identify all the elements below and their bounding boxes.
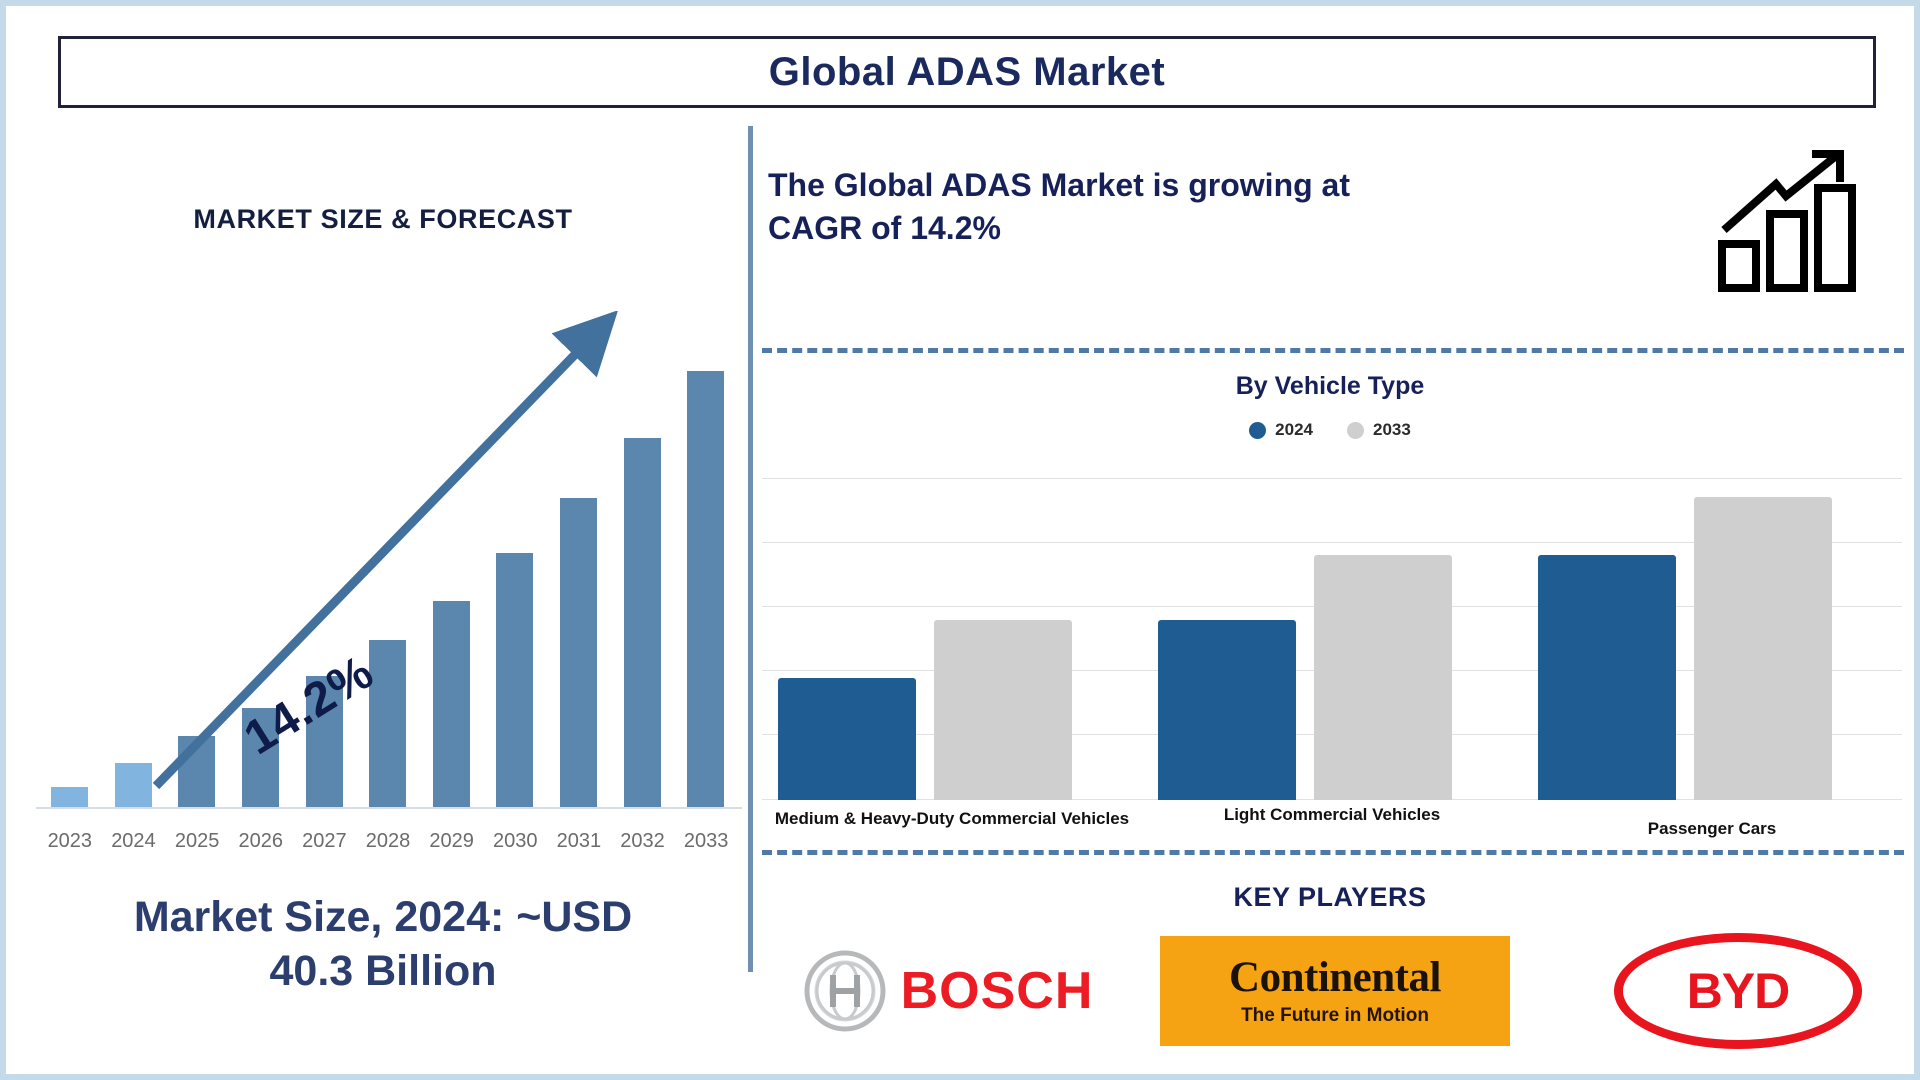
forecast-bar	[687, 371, 724, 807]
legend-label: 2024	[1275, 420, 1313, 440]
vehicle-type-category-label: Passenger Cars	[1522, 818, 1902, 841]
forecast-bar	[433, 601, 470, 807]
forecast-year-label: 2028	[356, 830, 420, 853]
vehicle-type-bar-2033	[1694, 497, 1832, 800]
vehicle-type-chart	[762, 478, 1902, 800]
forecast-bar	[369, 640, 406, 807]
forecast-year-label: 2032	[611, 830, 675, 853]
byd-wordmark: BYD	[1687, 962, 1790, 1020]
forecast-bar	[51, 787, 88, 807]
forecast-bar-slot	[420, 331, 484, 807]
legend-item[interactable]: 2033	[1347, 420, 1411, 440]
market-forecast-chart: 2023202420252026202720282029203020312032…	[28, 311, 746, 871]
growth-headline-line2: CAGR of 14.2%	[768, 207, 1638, 250]
forecast-bar-slot	[102, 331, 166, 807]
right-panel: The Global ADAS Market is growing at CAG…	[748, 126, 1912, 1071]
bosch-wordmark: BOSCH	[901, 961, 1094, 1021]
forecast-year-label: 2029	[420, 830, 484, 853]
vehicle-type-category-label: Light Commercial Vehicles	[1142, 804, 1522, 827]
byd-oval-icon: BYD	[1614, 933, 1862, 1049]
forecast-year-label: 2025	[165, 830, 229, 853]
forecast-year-label: 2027	[293, 830, 357, 853]
left-panel: MARKET SIZE & FORECAST 20232024202520262…	[20, 126, 746, 1066]
legend-label: 2033	[1373, 420, 1411, 440]
legend-item[interactable]: 2024	[1249, 420, 1313, 440]
market-size-note: Market Size, 2024: ~USD 40.3 Billion	[30, 891, 736, 999]
vehicle-type-title: By Vehicle Type	[748, 372, 1912, 401]
key-players-title: KEY PLAYERS	[748, 882, 1912, 913]
forecast-year-label: 2024	[102, 830, 166, 853]
continental-tagline: The Future in Motion	[1241, 1005, 1429, 1027]
vehicle-type-bar-2024	[1538, 555, 1676, 800]
continental-wordmark: Continental	[1229, 956, 1441, 999]
vehicle-type-group	[1142, 478, 1522, 800]
growth-chart-icon	[1714, 148, 1864, 293]
forecast-year-label: 2030	[483, 830, 547, 853]
title-box: Global ADAS Market	[58, 36, 1876, 108]
forecast-bar-slot	[674, 331, 738, 807]
market-size-note-line1: Market Size, 2024: ~USD	[30, 891, 736, 945]
market-size-note-line2: 40.3 Billion	[30, 945, 736, 999]
growth-headline: The Global ADAS Market is growing at CAG…	[768, 164, 1638, 249]
forecast-year-label: 2023	[38, 830, 102, 853]
forecast-bar-slot	[547, 331, 611, 807]
logo-byd: BYD	[1588, 936, 1888, 1046]
infographic-canvas: Global ADAS Market MARKET SIZE & FORECAS…	[0, 0, 1920, 1080]
forecast-axis-line	[36, 807, 742, 809]
forecast-bar-slot	[165, 331, 229, 807]
forecast-bars	[38, 331, 738, 807]
legend-dot-icon	[1347, 422, 1364, 439]
divider-dashed-top	[762, 348, 1904, 353]
logo-bosch: BOSCH	[768, 936, 1128, 1046]
forecast-bar	[560, 498, 597, 807]
vehicle-type-bar-2024	[778, 678, 916, 800]
forecast-year-label: 2031	[547, 830, 611, 853]
logo-continental: Continental The Future in Motion	[1160, 936, 1510, 1046]
vehicle-type-group	[762, 478, 1142, 800]
forecast-bar	[624, 438, 661, 807]
forecast-bar-slot	[611, 331, 675, 807]
vehicle-type-bar-2033	[934, 620, 1072, 800]
vehicle-type-bar-2033	[1314, 555, 1452, 800]
vehicle-type-legend: 20242033	[748, 420, 1912, 440]
vehicle-type-bar-2024	[1158, 620, 1296, 800]
market-size-forecast-label: MARKET SIZE & FORECAST	[20, 204, 746, 235]
page-title: Global ADAS Market	[769, 50, 1165, 95]
forecast-bar-slot	[356, 331, 420, 807]
vehicle-type-category-label: Medium & Heavy-Duty Commercial Vehicles	[762, 808, 1142, 831]
forecast-year-label: 2026	[229, 830, 293, 853]
key-players-logos: BOSCH Continental The Future in Motion B…	[748, 936, 1912, 1056]
bosch-emblem-icon	[803, 949, 887, 1033]
forecast-bar	[115, 763, 152, 807]
forecast-bar	[178, 736, 215, 807]
forecast-year-labels: 2023202420252026202720282029203020312032…	[38, 817, 738, 853]
forecast-bar-slot	[483, 331, 547, 807]
divider-dashed-bottom	[762, 850, 1904, 855]
forecast-bar-slot	[38, 331, 102, 807]
legend-dot-icon	[1249, 422, 1266, 439]
vehicle-type-category-labels: Medium & Heavy-Duty Commercial VehiclesL…	[762, 808, 1902, 870]
vehicle-type-bar-groups	[762, 478, 1902, 800]
vehicle-type-group	[1522, 478, 1902, 800]
growth-headline-line1: The Global ADAS Market is growing at	[768, 164, 1638, 207]
forecast-year-label: 2033	[674, 830, 738, 853]
forecast-bar	[496, 553, 533, 807]
